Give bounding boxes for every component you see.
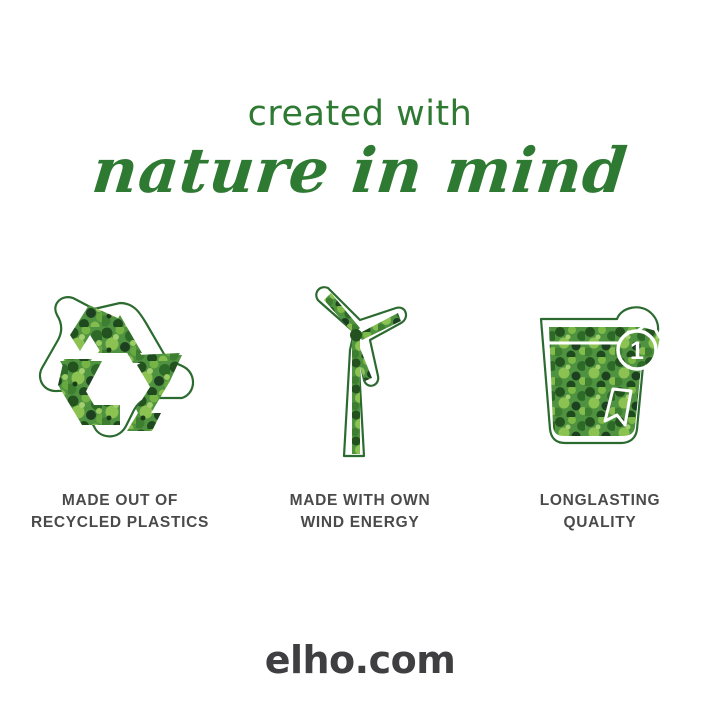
feature-caption-recycled-plastics: MADE OUT OF RECYCLED PLASTICS	[31, 490, 209, 535]
page-title: created with nature in mind	[0, 96, 720, 206]
feature-item-wind-energy: MADE WITH OWN WIND ENERGY	[240, 278, 480, 535]
recycle-icon	[34, 278, 206, 468]
poster-root: created with nature in mind	[0, 0, 720, 720]
feature-item-longlasting-quality: 1 LONGLASTING QUALITY	[480, 278, 720, 535]
pot-award-icon: 1	[525, 278, 675, 468]
headline-line-nature-in-mind: nature in mind	[0, 135, 720, 206]
footer: elho.com	[0, 638, 720, 682]
brand-logo-elho: elho.com	[265, 638, 456, 682]
feature-list: MADE OUT OF RECYCLED PLASTICS	[0, 278, 720, 535]
headline-line-created-with: created with	[0, 96, 720, 133]
feature-item-recycled-plastics: MADE OUT OF RECYCLED PLASTICS	[0, 278, 240, 535]
feature-caption-longlasting-quality: LONGLASTING QUALITY	[540, 490, 661, 535]
feature-caption-wind-energy: MADE WITH OWN WIND ENERGY	[290, 490, 431, 535]
award-badge-number: 1	[630, 337, 644, 365]
wind-turbine-icon	[300, 278, 420, 468]
